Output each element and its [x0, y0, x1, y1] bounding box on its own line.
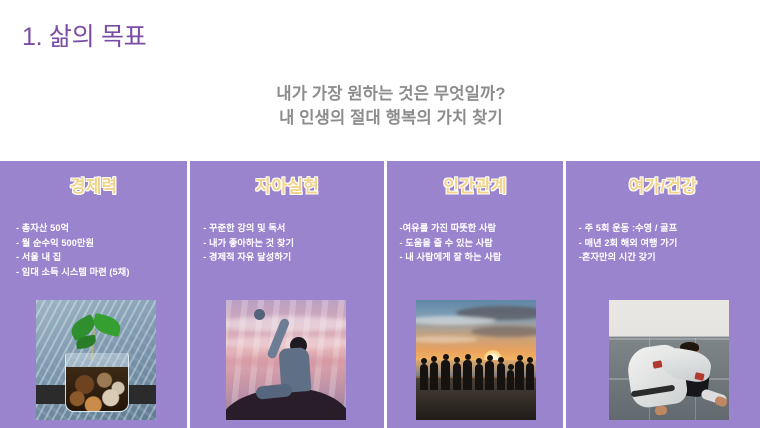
list-item: -여유를 가진 따뜻한 사람	[399, 221, 501, 236]
cloud-shape	[226, 336, 346, 349]
goal-panels: 경제력 - 총자산 50억 - 월 순수익 500만원 - 서울 내 집 - 임…	[0, 161, 760, 428]
panel-title-self-realization: 자아실현	[190, 172, 384, 197]
group-beach-sunset-photo	[416, 300, 536, 420]
list-item: - 임대 소득 시스템 마련 (5채)	[16, 265, 129, 280]
subtitle-line-1: 내가 가장 원하는 것은 무엇일까?	[22, 82, 760, 106]
list-item: -혼자만의 시간 갖기	[579, 250, 678, 265]
panel-title-economic-power: 경제력	[0, 172, 187, 197]
sprout-leaf-shape	[91, 313, 123, 337]
uniform-patch-shape	[652, 360, 662, 368]
list-item: - 도움을 줄 수 있는 사람	[399, 236, 501, 251]
panel-economic-power[interactable]: 경제력 - 총자산 50억 - 월 순수익 500만원 - 서울 내 집 - 임…	[0, 161, 187, 428]
list-item: - 매년 2회 해외 여행 가기	[579, 236, 678, 251]
cloud-shape	[416, 316, 496, 325]
cloud-shape	[471, 326, 536, 337]
panel-list-self-realization: - 꾸준한 강의 및 독서 - 내가 좋아하는 것 찾기 - 경제적 자유 달성…	[203, 221, 294, 265]
subtitle-line-2: 내 인생의 절대 행복의 가치 찾기	[22, 106, 760, 130]
panel-title-leisure-health: 여가/건강	[566, 172, 760, 197]
panel-leisure-health[interactable]: 여가/건강 - 주 5회 운동 :수영 / 골프 - 매년 2회 해외 여행 가…	[566, 161, 760, 428]
list-item: - 내 사람에게 잘 하는 사람	[399, 250, 501, 265]
list-item: - 총자산 50억	[16, 221, 129, 236]
list-item: - 내가 좋아하는 것 찾기	[203, 236, 294, 251]
jiujitsu-training-photo	[609, 300, 729, 420]
panel-self-realization[interactable]: 자아실현 - 꾸준한 강의 및 독서 - 내가 좋아하는 것 찾기 - 경제적 …	[190, 161, 384, 428]
list-item: - 꾸준한 강의 및 독서	[203, 221, 294, 236]
list-item: - 경제적 자유 달성하기	[203, 250, 294, 265]
list-item: - 주 5회 운동 :수영 / 골프	[579, 221, 678, 236]
coins-jar-sprout-photo	[36, 300, 156, 420]
panel-title-relationships: 인간관계	[387, 172, 562, 197]
panel-relationships[interactable]: 인간관계 -여유를 가진 따뜻한 사람 - 도움을 줄 수 있는 사람 - 내 …	[387, 161, 562, 428]
list-item: - 월 순수익 500만원	[16, 236, 129, 251]
page-title: 1. 삶의 목표	[22, 17, 146, 53]
subtitle-block: 내가 가장 원하는 것은 무엇일까? 내 인생의 절대 행복의 가치 찾기	[0, 82, 760, 130]
cloud-shape	[416, 336, 478, 343]
coin-jar-shape	[65, 353, 129, 412]
panel-list-economic-power: - 총자산 50억 - 월 순수익 500만원 - 서울 내 집 - 임대 소득…	[16, 221, 129, 279]
hand-shape	[654, 405, 667, 415]
panel-list-leisure-health: - 주 5회 운동 :수영 / 골프 - 매년 2회 해외 여행 가기 -혼자만…	[579, 221, 678, 265]
person-arm-raised-photo	[226, 300, 346, 420]
crowd-silhouette-shape	[416, 352, 536, 390]
list-item: - 서울 내 집	[16, 250, 129, 265]
panel-list-relationships: -여유를 가진 따뜻한 사람 - 도움을 줄 수 있는 사람 - 내 사람에게 …	[399, 221, 501, 265]
